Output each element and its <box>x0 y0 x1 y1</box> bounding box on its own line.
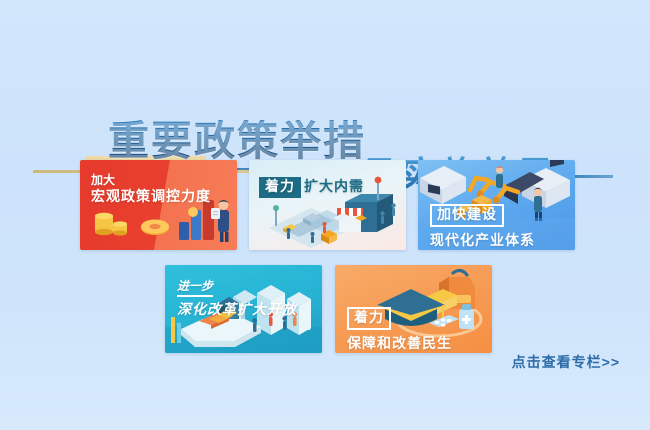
page-title-line1: 重要政策举措 <box>108 120 366 163</box>
card-macro-policy-line2: 宏观政策调控力度 <box>91 188 211 206</box>
card-modern-industrial-system[interactable]: 加快建设 现代化产业体系 <box>418 160 575 250</box>
banner-title-area: 重要政策举措 及实施效果 <box>0 58 650 148</box>
card-macro-policy-line1: 加大 <box>91 173 211 188</box>
card-macro-policy[interactable]: 加大 宏观政策调控力度 <box>80 160 237 250</box>
card-deepen-reform-opening-line1: 进一步 <box>177 279 213 297</box>
card-modern-industrial-system-line1: 加快建设 <box>430 204 504 227</box>
card-safeguard-improve-livelihood[interactable]: 着力 保障和改善民生 <box>335 265 492 353</box>
card-expand-domestic-demand-line2: 扩大内需 <box>304 178 364 194</box>
view-column-link[interactable]: 点击查看专栏>> <box>512 352 620 372</box>
card-deepen-reform-opening[interactable]: 进一步 深化改革扩大开放 <box>165 265 322 353</box>
policy-banner: 重要政策举措 及实施效果 <box>0 0 650 430</box>
card-deepen-reform-opening-label: 进一步 深化改革扩大开放 <box>177 276 297 319</box>
card-safeguard-improve-livelihood-line2: 保障和改善民生 <box>347 335 452 353</box>
card-safeguard-improve-livelihood-line1: 着力 <box>347 307 391 330</box>
coin-stack-icon <box>95 213 127 236</box>
card-expand-domestic-demand-line1: 着力 <box>259 177 301 198</box>
card-expand-domestic-demand-art <box>249 160 406 250</box>
card-macro-policy-label: 加大 宏观政策调控力度 <box>91 173 211 206</box>
card-deepen-reform-opening-line2: 深化改革扩大开放 <box>177 301 297 319</box>
donut-coin-icon <box>141 220 169 236</box>
card-modern-industrial-system-line2: 现代化产业体系 <box>430 232 535 250</box>
card-expand-domestic-demand-label: 着力扩大内需 <box>259 177 364 198</box>
card-expand-domestic-demand[interactable]: 着力扩大内需 <box>249 160 406 250</box>
card-safeguard-improve-livelihood-label: 着力 保障和改善民生 <box>347 307 452 352</box>
card-modern-industrial-system-label: 加快建设 现代化产业体系 <box>430 204 535 249</box>
